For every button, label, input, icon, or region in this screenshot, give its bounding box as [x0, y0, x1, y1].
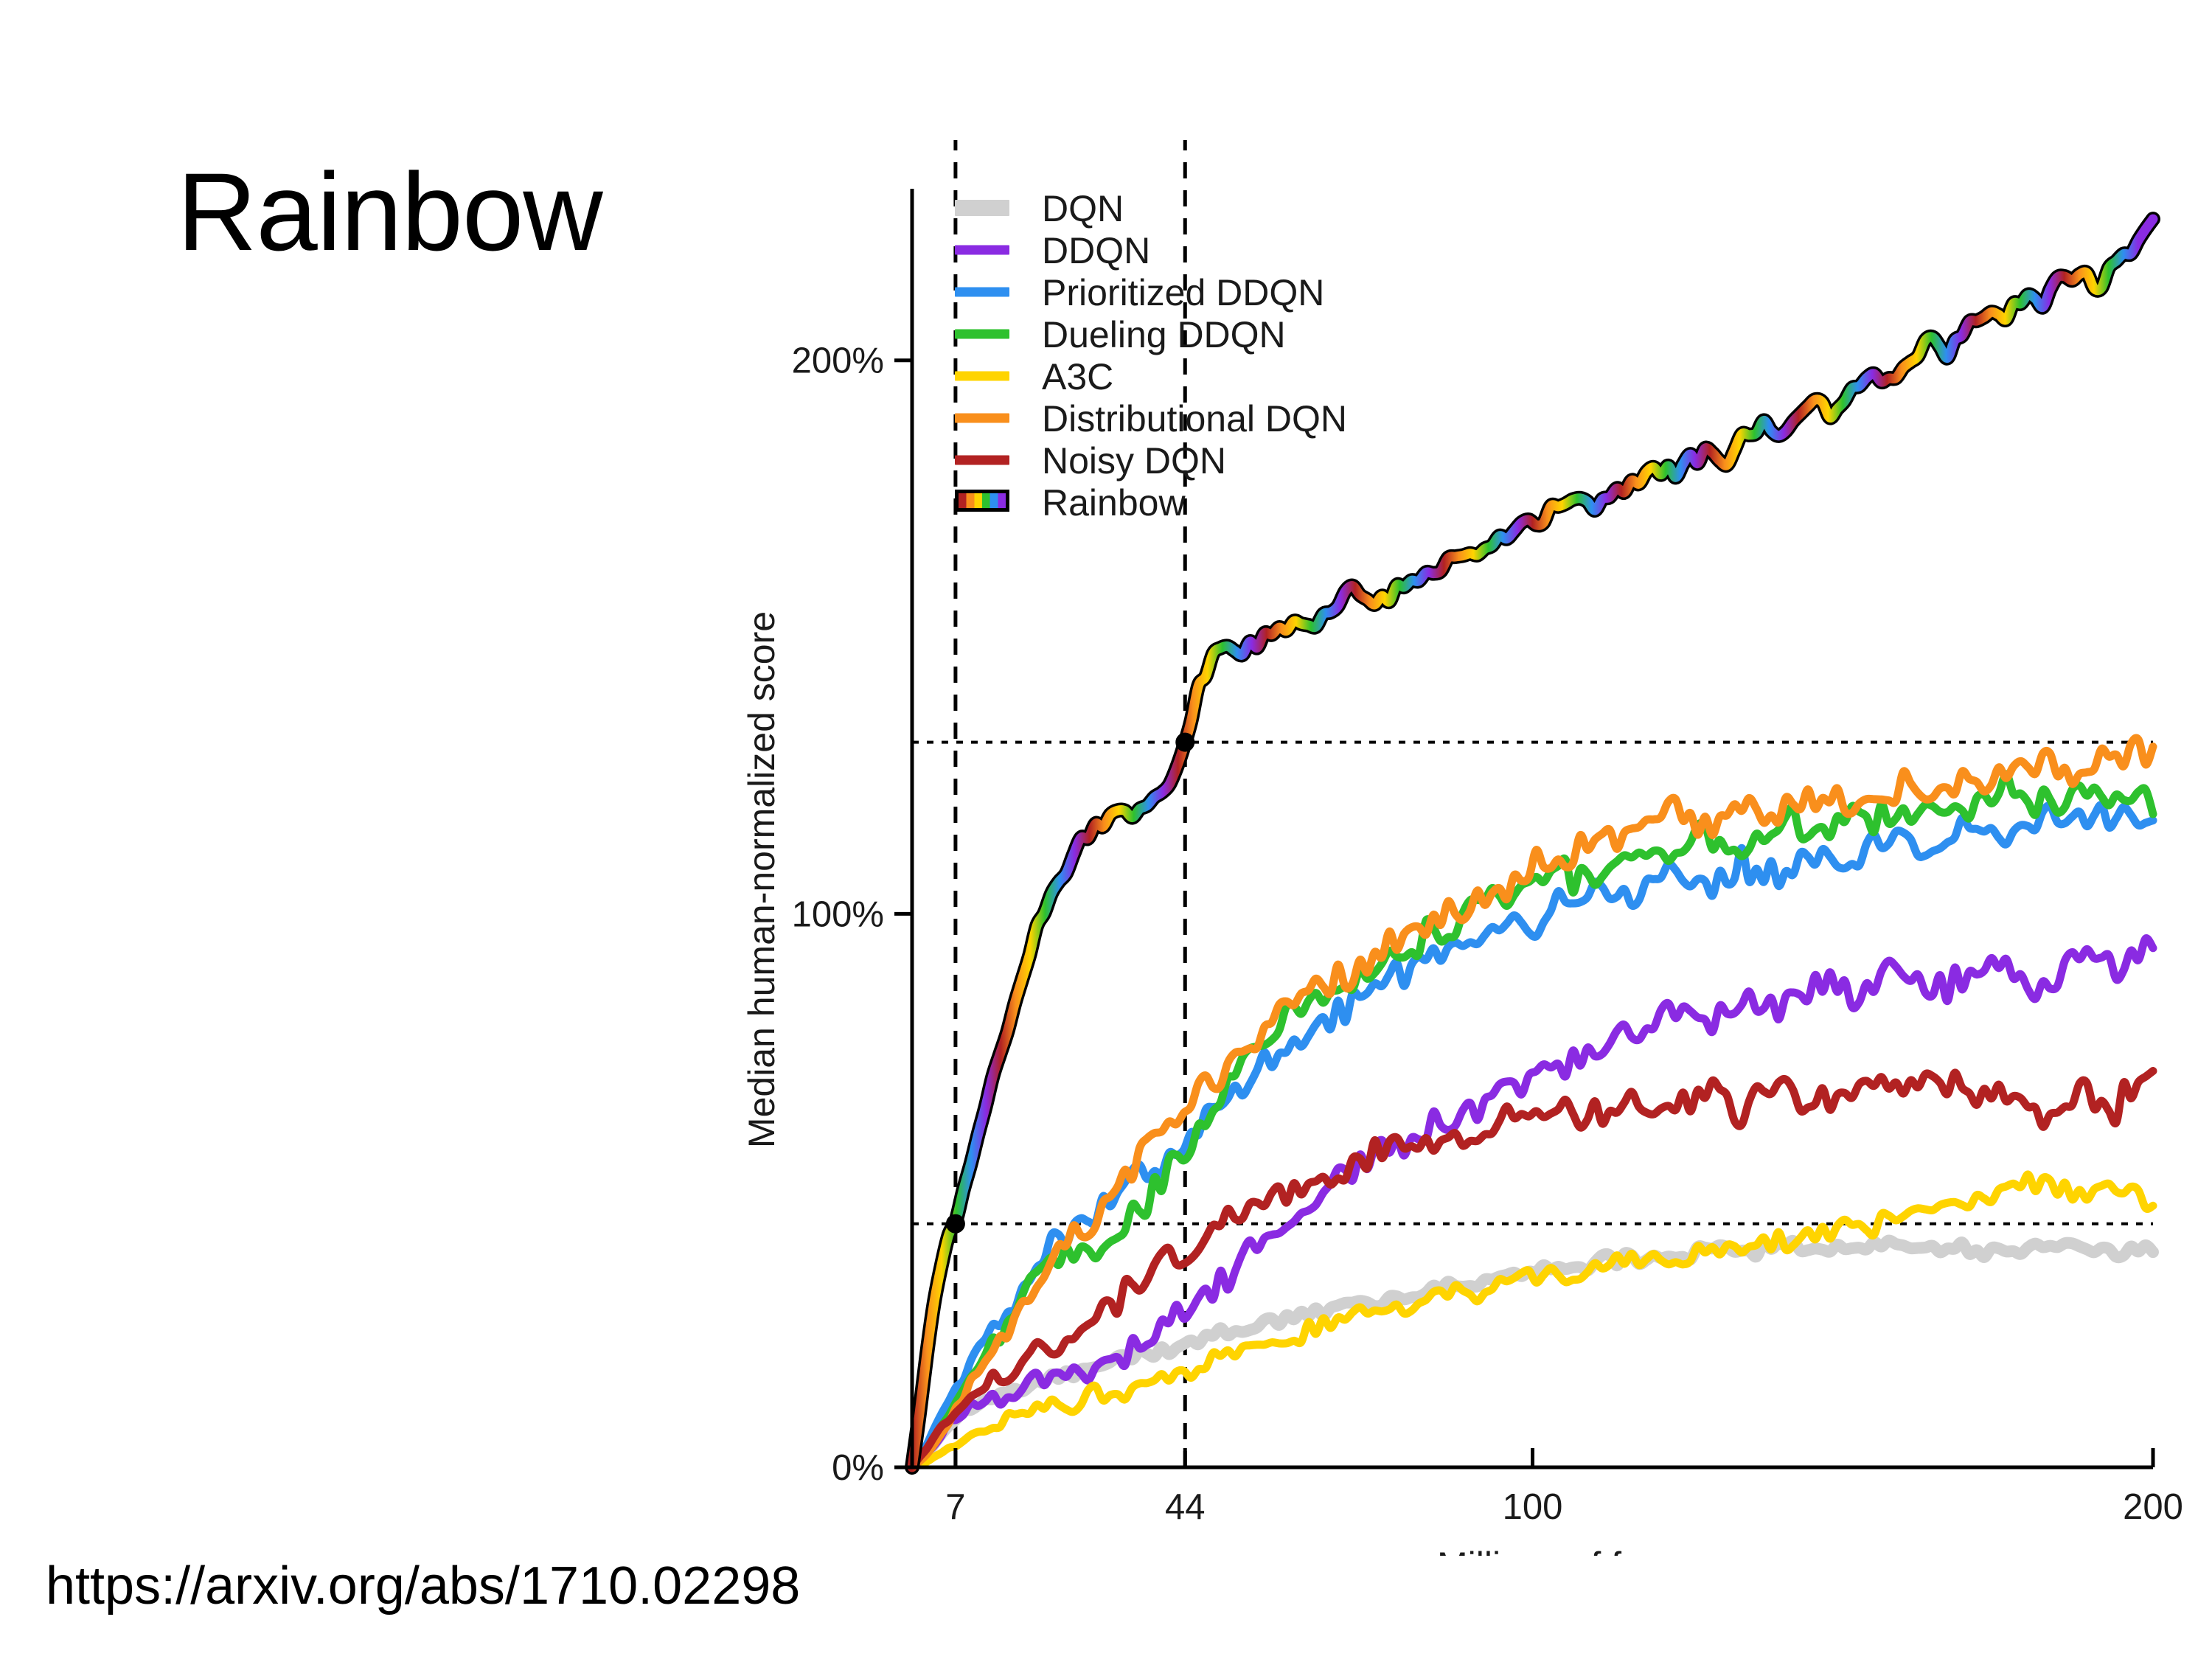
annotation-marker-44 — [1175, 733, 1194, 752]
legend-label-rainbow: Rainbow — [1042, 482, 1186, 524]
legend-label-ddqn: DDQN — [1042, 230, 1150, 271]
legend-item-dqn[interactable]: DQN — [955, 188, 1124, 229]
x-tick-label-100: 100 — [1503, 1487, 1563, 1527]
y-tick-label-0: 0% — [832, 1448, 884, 1488]
legend-swatch-noisy-dqn — [955, 456, 1009, 465]
legend-label-dqn: DQN — [1042, 188, 1124, 229]
legend-label-dueling-ddqn: Dueling DDQN — [1042, 314, 1286, 355]
x-axis-title: Millions of frames — [1437, 1545, 1724, 1556]
slide-canvas: Rainbow 0%100%200%744100200Millions of f… — [0, 0, 2212, 1659]
annotation-marker-7 — [946, 1214, 965, 1234]
legend-swatch-dueling-ddqn — [955, 330, 1009, 339]
legend-item-rainbow[interactable]: Rainbow — [955, 482, 1186, 524]
source-url-text: https://arxiv.org/abs/1710.02298 — [46, 1557, 800, 1615]
x-tick-label-200: 200 — [2123, 1487, 2183, 1527]
legend-swatch-ddqn — [955, 246, 1009, 255]
x-tick-label-7: 7 — [945, 1487, 965, 1527]
y-tick-label-200: 200% — [792, 341, 884, 381]
legend-swatch-a3c — [955, 372, 1009, 381]
legend-label-noisy-dqn: Noisy DQN — [1042, 440, 1226, 481]
series-line-distributional-dqn — [912, 738, 2153, 1467]
legend-item-dueling-ddqn[interactable]: Dueling DDQN — [955, 314, 1286, 355]
legend-swatch-distributional-dqn — [955, 414, 1009, 423]
legend-item-distributional-dqn[interactable]: Distributional DQN — [955, 398, 1347, 439]
y-tick-label-100: 100% — [792, 894, 884, 934]
chart-figure: 0%100%200%744100200Millions of framesMed… — [723, 140, 2205, 1556]
legend-swatch-dqn — [955, 200, 1009, 216]
rainbow-performance-chart: 0%100%200%744100200Millions of framesMed… — [723, 140, 2205, 1556]
legend-item-a3c[interactable]: A3C — [955, 356, 1113, 397]
y-axis-title: Median human-normalized score — [741, 611, 782, 1148]
legend-item-ddqn[interactable]: DDQN — [955, 230, 1150, 271]
chart-legend: DQNDDQNPrioritized DDQNDueling DDQNA3CDi… — [955, 188, 1347, 524]
legend-item-noisy-dqn[interactable]: Noisy DQN — [955, 440, 1226, 481]
annotation-markers — [946, 733, 1194, 1234]
legend-swatch-prioritized-ddqn — [955, 288, 1009, 297]
legend-label-a3c: A3C — [1042, 356, 1113, 397]
x-tick-label-44: 44 — [1165, 1487, 1206, 1527]
legend-swatch-rainbow — [959, 493, 1006, 508]
legend-item-prioritized-ddqn[interactable]: Prioritized DDQN — [955, 272, 1324, 313]
legend-label-prioritized-ddqn: Prioritized DDQN — [1042, 272, 1324, 313]
page-title: Rainbow — [177, 156, 602, 267]
legend-label-distributional-dqn: Distributional DQN — [1042, 398, 1347, 439]
